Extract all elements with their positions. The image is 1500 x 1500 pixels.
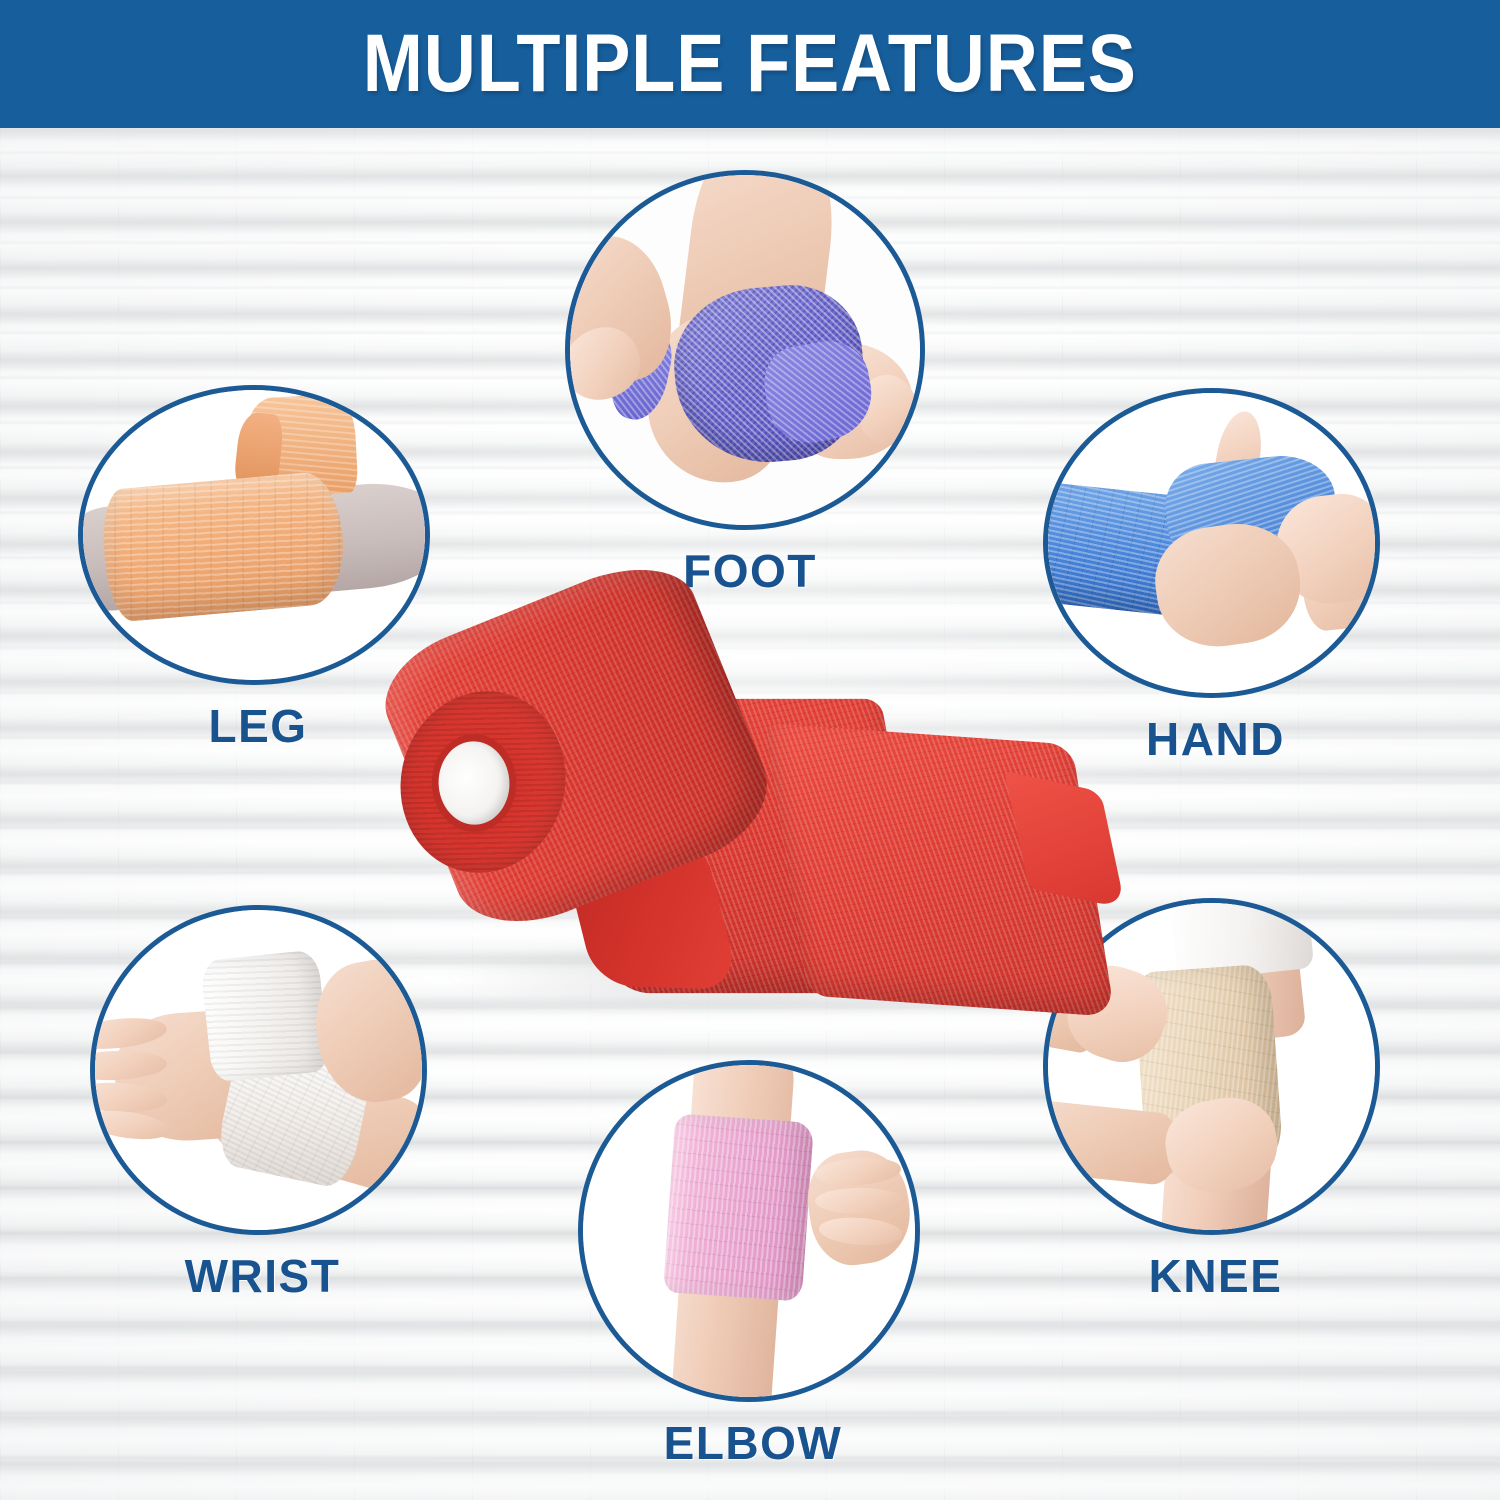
feature-knee-label: KNEE bbox=[1043, 1249, 1388, 1303]
feature-leg-circle[interactable] bbox=[78, 385, 430, 685]
page-title: MULTIPLE FEATURES bbox=[363, 23, 1137, 105]
feature-leg-photo bbox=[83, 390, 425, 680]
feature-elbow[interactable]: ELBOW bbox=[578, 1060, 928, 1470]
wrist-bandage-roll bbox=[200, 949, 330, 1082]
leg-bandage-wrap bbox=[98, 470, 348, 624]
feature-elbow-photo bbox=[583, 1065, 915, 1397]
feature-elbow-label: ELBOW bbox=[578, 1416, 928, 1470]
feature-elbow-circle[interactable] bbox=[578, 1060, 920, 1402]
feature-wrist-circle[interactable] bbox=[90, 905, 427, 1235]
elbow-bandage-wrap bbox=[663, 1113, 815, 1302]
feature-leg[interactable]: LEG bbox=[78, 385, 438, 753]
product-bandage-roll bbox=[390, 590, 1130, 1070]
feature-wrist-photo bbox=[95, 910, 422, 1230]
feature-wrist-label: WRIST bbox=[90, 1249, 435, 1303]
feature-foot[interactable]: FOOT bbox=[565, 170, 935, 598]
product-infographic: MULTIPLE FEATURES FOOT bbox=[0, 0, 1500, 1500]
feature-wrist[interactable]: WRIST bbox=[90, 905, 435, 1303]
feature-leg-label: LEG bbox=[78, 699, 438, 753]
header-banner: MULTIPLE FEATURES bbox=[0, 0, 1500, 128]
feature-foot-circle[interactable] bbox=[565, 170, 925, 530]
feature-foot-photo bbox=[570, 175, 920, 525]
